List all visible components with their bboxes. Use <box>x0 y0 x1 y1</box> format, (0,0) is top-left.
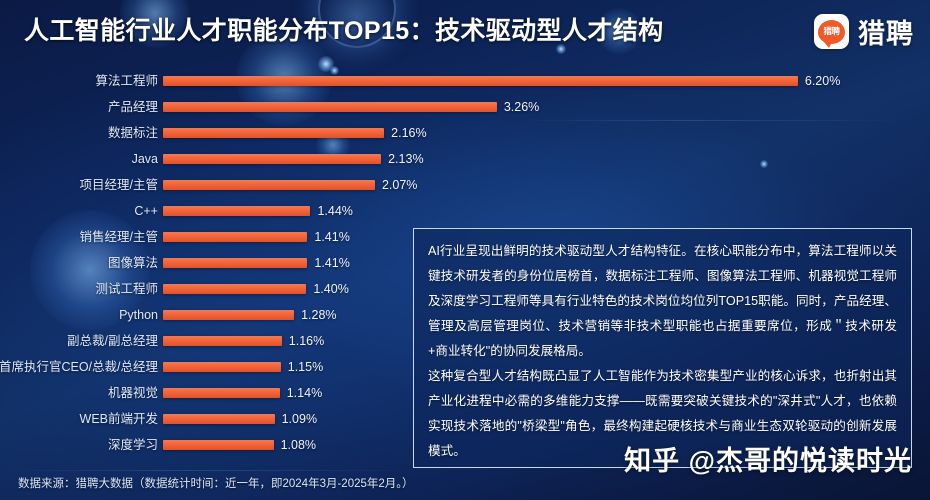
bar-fill <box>163 388 280 398</box>
bar-track <box>163 362 281 372</box>
bar-category-label: 图像算法 <box>0 250 158 276</box>
bar-fill <box>163 362 281 372</box>
bar-value-label: 3.26% <box>504 94 539 120</box>
page-title: 人工智能行业人才职能分布TOP15：技术驱动型人才结构 <box>24 11 664 47</box>
bar-fill <box>163 102 497 112</box>
bar-category-label: WEB前端开发 <box>0 406 158 432</box>
bar-row: 产品经理3.26% <box>0 94 930 120</box>
bar-value-label: 1.09% <box>282 406 317 432</box>
bar-value-label: 1.08% <box>281 432 316 458</box>
commentary-paragraph: AI行业呈现出鲜明的技术驱动型人才结构特征。在核心职能分布中，算法工程师以关键技… <box>428 239 897 364</box>
bar-category-label: 首席执行官CEO/总裁/总经理 <box>0 354 158 380</box>
speech-bubble-icon: 猎聘 <box>818 20 845 44</box>
bar-value-label: 1.28% <box>301 302 336 328</box>
bar-value-label: 2.13% <box>388 146 423 172</box>
watermark-label: 知乎 @杰哥的悦读时光 <box>624 439 912 478</box>
bar-track <box>163 180 375 190</box>
bar-fill <box>163 232 307 242</box>
bar-fill <box>163 180 375 190</box>
bar-row: 数据标注2.16% <box>0 120 930 146</box>
bar-fill <box>163 258 307 268</box>
header-bar: 人工智能行业人才职能分布TOP15：技术驱动型人才结构 猎聘 猎聘 <box>0 0 930 60</box>
bar-value-label: 1.15% <box>288 354 323 380</box>
bar-track <box>163 154 381 164</box>
bar-row: 算法工程师6.20% <box>0 68 930 94</box>
bar-category-label: 产品经理 <box>0 94 158 120</box>
bar-category-label: 机器视觉 <box>0 380 158 406</box>
bar-fill <box>163 206 310 216</box>
bar-fill <box>163 414 275 424</box>
bar-track <box>163 102 497 112</box>
bar-fill <box>163 310 294 320</box>
bar-fill <box>163 440 274 450</box>
bar-fill <box>163 128 384 138</box>
bar-category-label: 测试工程师 <box>0 276 158 302</box>
bar-category-label: 销售经理/主管 <box>0 224 158 250</box>
data-source-note: 数据来源：猎聘大数据（数据统计时间：近一年，即2024年3月-2025年2月。） <box>18 475 414 491</box>
bar-value-label: 6.20% <box>805 68 840 94</box>
bar-track <box>163 232 307 242</box>
bar-track <box>163 310 294 320</box>
bar-category-label: C++ <box>0 198 158 224</box>
bar-value-label: 1.44% <box>317 198 352 224</box>
brand-name-label: 猎聘 <box>858 12 914 51</box>
commentary-panel: AI行业呈现出鲜明的技术驱动型人才结构特征。在核心职能分布中，算法工程师以关键技… <box>413 228 912 468</box>
brand-logo: 猎聘 猎聘 <box>814 12 914 51</box>
bar-row: Java2.13% <box>0 146 930 172</box>
bar-row: C++1.44% <box>0 198 930 224</box>
bar-track <box>163 388 280 398</box>
bar-track <box>163 258 307 268</box>
bar-category-label: 项目经理/主管 <box>0 172 158 198</box>
bar-fill <box>163 284 306 294</box>
bar-value-label: 1.41% <box>314 250 349 276</box>
bar-category-label: 算法工程师 <box>0 68 158 94</box>
bar-category-label: Java <box>0 146 158 172</box>
bar-track <box>163 440 274 450</box>
bar-category-label: 数据标注 <box>0 120 158 146</box>
bar-category-label: 副总裁/副总经理 <box>0 328 158 354</box>
bar-track <box>163 414 275 424</box>
bar-value-label: 1.40% <box>313 276 348 302</box>
bar-value-label: 1.41% <box>314 224 349 250</box>
bar-track <box>163 206 310 216</box>
light-streak-icon <box>0 470 420 471</box>
bar-category-label: Python <box>0 302 158 328</box>
bar-track <box>163 76 798 86</box>
bar-value-label: 1.14% <box>287 380 322 406</box>
bar-row: 项目经理/主管2.07% <box>0 172 930 198</box>
infographic-canvas: 人工智能行业人才职能分布TOP15：技术驱动型人才结构 猎聘 猎聘 算法工程师6… <box>0 0 930 500</box>
bar-category-label: 深度学习 <box>0 432 158 458</box>
bar-fill <box>163 76 798 86</box>
bar-track <box>163 336 282 346</box>
bar-fill <box>163 154 381 164</box>
bar-value-label: 1.16% <box>289 328 324 354</box>
bar-value-label: 2.16% <box>391 120 426 146</box>
bar-fill <box>163 336 282 346</box>
bar-track <box>163 284 306 294</box>
bar-value-label: 2.07% <box>382 172 417 198</box>
liepin-badge-icon: 猎聘 <box>814 14 849 49</box>
bar-track <box>163 128 384 138</box>
badge-label: 猎聘 <box>823 27 839 36</box>
